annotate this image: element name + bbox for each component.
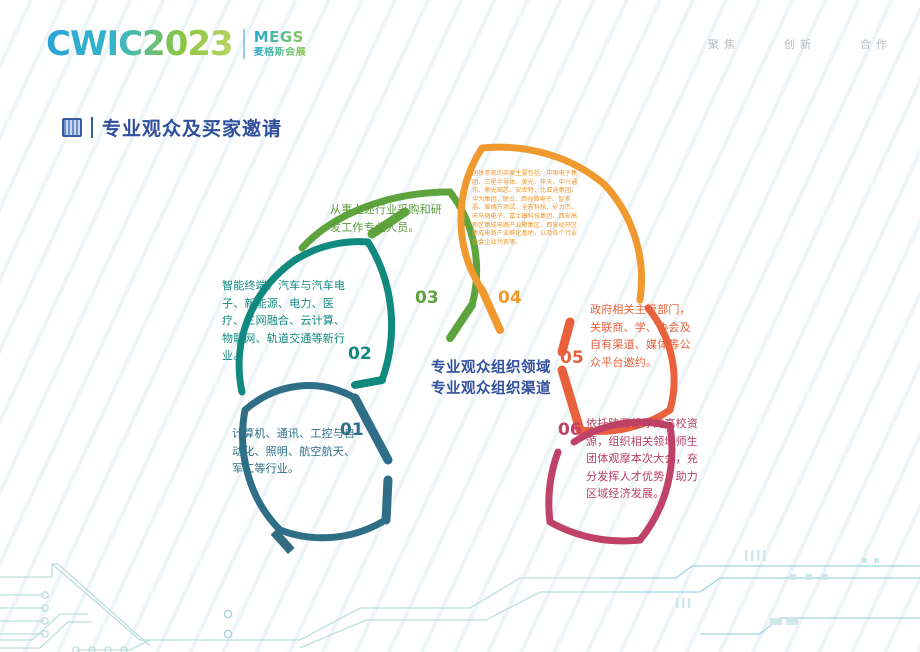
nav-item-cooperation[interactable]: 合作 — [860, 36, 892, 52]
logo-megs: MEGS 麦格斯会展 — [254, 30, 307, 59]
grid-icon — [62, 118, 82, 137]
segment-text-06: 依托陕西雄厚的高校资源，组织相关领域师生团体观摩本次大会，充分发挥人才优势，助力… — [586, 416, 698, 504]
center-label-line-2: 专业观众组织渠道 — [396, 379, 586, 400]
brand-logo: CWIC2023 MEGS 麦格斯会展 — [46, 26, 306, 62]
title-separator — [91, 117, 93, 138]
segment-number-06: 06 — [558, 420, 582, 440]
diagram-center-label: 专业观众组织领域 专业观众组织渠道 — [396, 358, 586, 400]
logo-divider — [243, 29, 245, 59]
logo-cwic-text: CWIC2023 — [46, 27, 233, 61]
nav-item-innovation[interactable]: 创新 — [784, 36, 816, 52]
segment-number-05: 05 — [560, 348, 584, 368]
segment-number-04: 04 — [498, 288, 522, 308]
top-navigation[interactable]: 聚焦 创新 合作 — [708, 36, 892, 52]
logo-megs-en-text: MEGS — [254, 30, 307, 45]
segment-text-05: 政府相关主管部门，关联商、学、协会及自有渠道、媒体等公众平台邀约。 — [590, 302, 698, 372]
segment-text-04: 团体参观的买家主要包括：中国电子集团、三星半导体、美光、华天、中兴通讯、紫光国芯… — [472, 170, 578, 247]
page-header: CWIC2023 MEGS 麦格斯会展 聚焦 创新 合作 — [0, 0, 920, 82]
audience-organization-diagram: 专业观众组织领域 专业观众组织渠道 01 02 03 04 05 06 计算机、… — [150, 130, 800, 550]
segment-text-01: 计算机、通讯、工控与自动化、照明、航空航天、军工等行业。 — [232, 426, 356, 479]
circuit-decoration — [0, 522, 920, 652]
nav-item-focus[interactable]: 聚焦 — [708, 36, 740, 52]
segment-text-02: 智能终端、汽车与汽车电子、新能源、电力、医疗、三网融合、云计算、物联网、轨道交通… — [222, 278, 352, 366]
segment-text-03: 从事上述行业采购和研发工作专业人员。 — [330, 202, 452, 237]
logo-megs-cn-text: 麦格斯会展 — [254, 47, 307, 59]
segment-number-03: 03 — [415, 288, 439, 308]
center-label-line-1: 专业观众组织领域 — [396, 358, 586, 379]
